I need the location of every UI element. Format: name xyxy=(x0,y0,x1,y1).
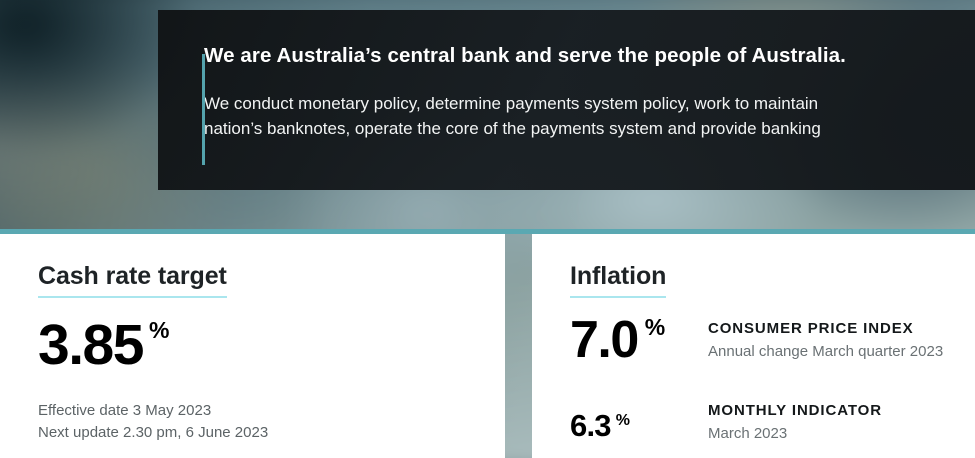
stat-cards-row: Cash rate target 3.85 % Effective date 3… xyxy=(0,229,975,458)
cash-rate-next-update: Next update 2.30 pm, 6 June 2023 xyxy=(38,422,485,444)
card-cash-rate-target[interactable]: Cash rate target 3.85 % Effective date 3… xyxy=(0,229,505,458)
inflation-monthly-sublabel: March 2023 xyxy=(708,424,882,444)
inflation-cpi-sublabel: Annual change March quarter 2023 xyxy=(708,342,943,362)
hero-body-line-2: nation’s banknotes, operate the core of … xyxy=(204,116,975,142)
inflation-monthly-unit: % xyxy=(616,413,630,429)
inflation-monthly-figure: 6.3 % xyxy=(570,384,708,441)
cash-rate-unit: % xyxy=(149,319,169,342)
inflation-cpi-label-group: CONSUMER PRICE INDEX Annual change March… xyxy=(708,312,943,362)
accent-bar xyxy=(202,54,205,165)
inflation-row-cpi: 7.0 % CONSUMER PRICE INDEX Annual change… xyxy=(570,312,955,366)
cash-rate-figure: 3.85 % xyxy=(38,317,485,374)
cash-rate-meta: Effective date 3 May 2023 Next update 2.… xyxy=(38,400,485,444)
hero-body-line-1: We conduct monetary policy, determine pa… xyxy=(204,91,975,117)
card-inflation[interactable]: Inflation 7.0 % CONSUMER PRICE INDEX Ann… xyxy=(532,229,975,458)
hero-headline: We are Australia’s central bank and serv… xyxy=(204,44,975,69)
inflation-title: Inflation xyxy=(570,262,666,298)
inflation-cpi-value: 7.0 xyxy=(570,314,638,366)
inflation-monthly-value: 6.3 xyxy=(570,410,611,441)
cash-rate-value: 3.85 xyxy=(38,317,143,374)
inflation-cpi-figure: 7.0 % xyxy=(570,312,708,366)
inflation-row-monthly: 6.3 % MONTHLY INDICATOR March 2023 xyxy=(570,384,955,444)
cash-rate-title: Cash rate target xyxy=(38,262,227,298)
inflation-monthly-label-group: MONTHLY INDICATOR March 2023 xyxy=(708,384,882,444)
inflation-monthly-label: MONTHLY INDICATOR xyxy=(708,402,882,420)
inflation-rows: 7.0 % CONSUMER PRICE INDEX Annual change… xyxy=(570,312,955,444)
hero-statement-inner: We are Australia’s central bank and serv… xyxy=(158,10,975,190)
inflation-cpi-label: CONSUMER PRICE INDEX xyxy=(708,320,943,338)
hero-statement-panel: We are Australia’s central bank and serv… xyxy=(158,10,975,190)
cash-rate-effective-date: Effective date 3 May 2023 xyxy=(38,400,485,422)
hero-body: We conduct monetary policy, determine pa… xyxy=(204,91,975,143)
inflation-cpi-unit: % xyxy=(645,316,665,339)
page-root: We are Australia’s central bank and serv… xyxy=(0,0,975,458)
